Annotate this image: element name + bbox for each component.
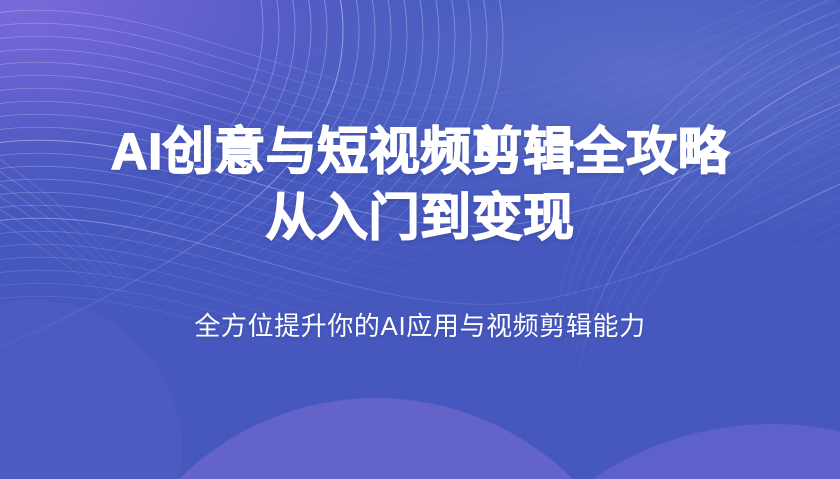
banner-title-line-1: AI创意与短视频剪辑全攻略 bbox=[111, 121, 730, 183]
banner-text-block: AI创意与短视频剪辑全攻略 从入门到变现 全方位提升你的AI应用与视频剪辑能力 bbox=[0, 0, 840, 479]
banner-subtitle: 全方位提升你的AI应用与视频剪辑能力 bbox=[194, 309, 645, 343]
course-banner: AI创意与短视频剪辑全攻略 从入门到变现 全方位提升你的AI应用与视频剪辑能力 bbox=[0, 0, 840, 479]
banner-title-line-2: 从入门到变现 bbox=[265, 187, 574, 249]
